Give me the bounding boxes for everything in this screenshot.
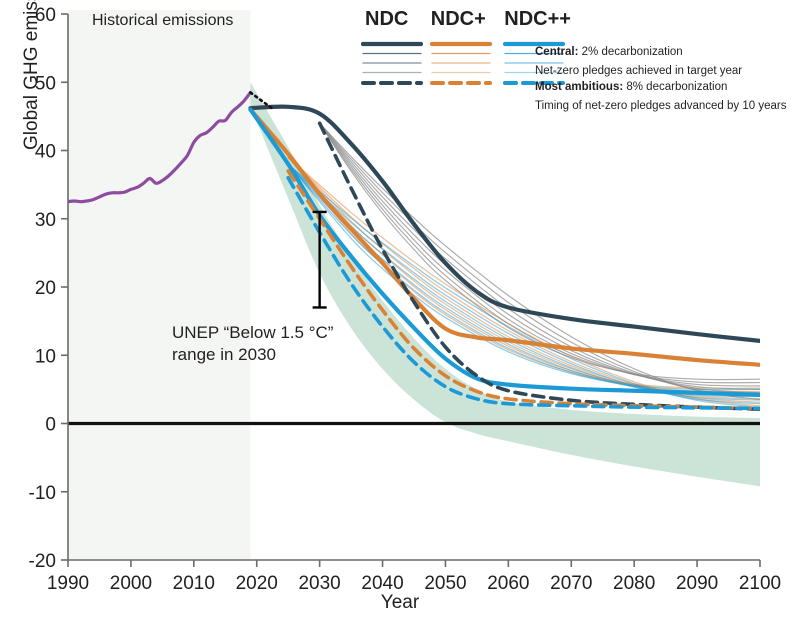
y-tick-30: 30 [35, 210, 56, 231]
y-tick-0: 0 [45, 415, 56, 436]
y-tick-50: 50 [35, 73, 56, 94]
x-tick-2070: 2070 [550, 573, 592, 594]
x-tick-2080: 2080 [613, 573, 655, 594]
y-tick--10: -10 [29, 483, 56, 504]
y-tick-40: 40 [35, 142, 56, 163]
x-tick-2030: 2030 [298, 573, 340, 594]
x-tick-2100: 2100 [739, 573, 781, 594]
y-tick-10: 10 [35, 346, 56, 367]
x-tick-2040: 2040 [361, 573, 403, 594]
historical-shading [68, 10, 250, 560]
x-tick-2020: 2020 [236, 573, 278, 594]
x-tick-2050: 2050 [424, 573, 466, 594]
y-tick-20: 20 [35, 278, 56, 299]
y-tick--20: -20 [29, 551, 56, 572]
x-tick-1990: 1990 [47, 573, 89, 594]
x-tick-2010: 2010 [173, 573, 215, 594]
scenario-range-band [250, 82, 760, 486]
emissions-chart: -20-100102030405060199020002010202020302… [0, 0, 800, 619]
y-tick-60: 60 [35, 5, 56, 26]
x-tick-2060: 2060 [487, 573, 529, 594]
x-tick-2000: 2000 [110, 573, 152, 594]
figure-container: -20-100102030405060199020002010202020302… [0, 0, 800, 619]
x-tick-2090: 2090 [676, 573, 718, 594]
